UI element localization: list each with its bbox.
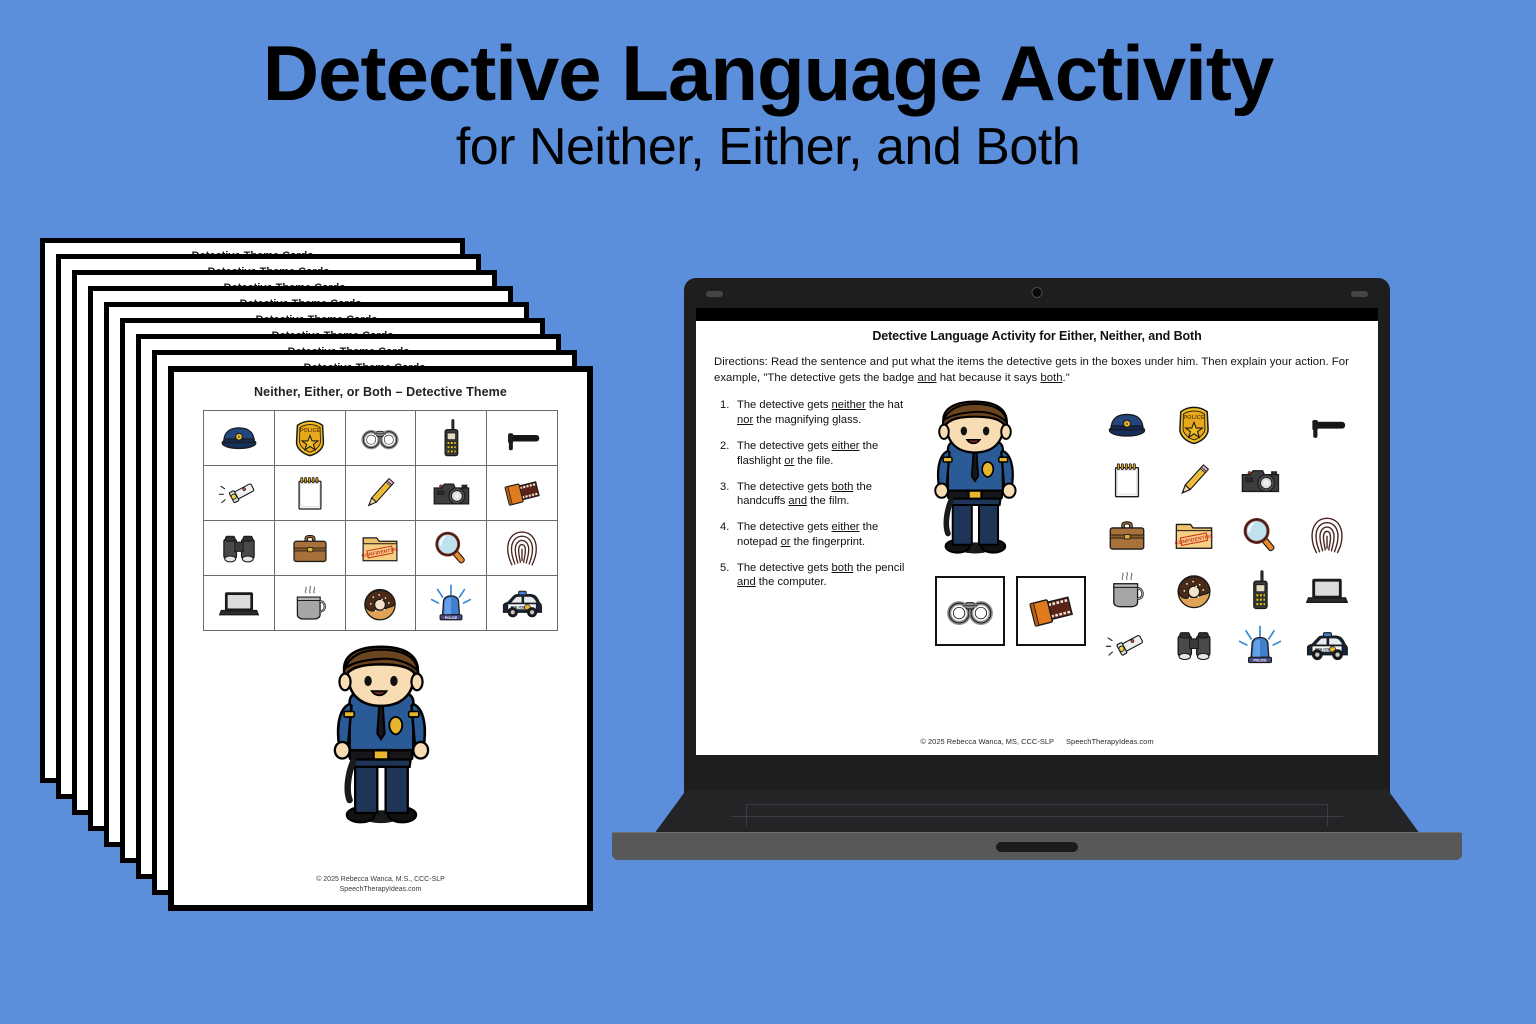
sentence-keyword-2: or <box>784 455 794 467</box>
detective-figure-column <box>919 398 1094 675</box>
sentence-keyword-2: and <box>788 495 807 507</box>
laptop-screen[interactable]: Detective Language Activity for Either, … <box>696 308 1378 755</box>
laptop-mockup: Detective Language Activity for Either, … <box>612 278 1462 858</box>
speaker-left-icon <box>706 291 723 297</box>
sentence-item: 2.The detective gets either the flashlig… <box>720 439 919 469</box>
item-bank-column: POLICE <box>1094 398 1360 675</box>
sentence-text: The detective gets either the flashlight… <box>737 439 919 469</box>
directions-mid: hat because it says <box>937 372 1041 384</box>
item-fingerprint[interactable] <box>1305 513 1349 562</box>
title-main: Detective Language Activity <box>0 34 1536 114</box>
directions-suffix: ." <box>1063 372 1070 384</box>
laptop-bezel <box>684 278 1390 308</box>
credit-site: SpeechTherapyIdeas.com <box>1066 737 1154 746</box>
keyboard-rows-2 <box>731 816 1344 830</box>
card-cell-siren[interactable]: POLICE <box>416 576 487 631</box>
sentence-item: 5.The detective gets both the pencil and… <box>720 561 919 591</box>
answer-box-handcuffs[interactable] <box>935 576 1005 646</box>
sentence-item: 4.The detective gets either the notepad … <box>720 520 919 550</box>
item-police-badge[interactable]: POLICE <box>1172 403 1216 452</box>
item-confidential-file[interactable]: CONFIDENTIAL <box>1172 513 1216 562</box>
laptop-keyboard-deck <box>654 790 1420 834</box>
sentence-text: The detective gets neither the hat nor t… <box>737 398 919 428</box>
item-flashlight[interactable] <box>1105 623 1149 672</box>
item-bank-grid[interactable]: POLICE <box>1094 400 1360 675</box>
front-sheet-credit: © 2025 Rebecca Wanca, M.S., CCC-SLPSpeec… <box>174 875 587 895</box>
card-cell-police-car[interactable]: POLICE <box>487 576 558 631</box>
card-cell-confidential-file[interactable]: CONFIDENTIAL <box>346 521 417 576</box>
laptop-latch <box>996 842 1078 852</box>
front-sheet[interactable]: Neither, Either, or Both – Detective The… <box>168 366 593 911</box>
card-cell-magnifying-glass[interactable] <box>416 521 487 576</box>
card-cell-binoculars[interactable] <box>204 521 275 576</box>
card-cell-donut[interactable] <box>346 576 417 631</box>
document-directions: Directions: Read the sentence and put wh… <box>714 354 1360 386</box>
sentence-list: 1.The detective gets neither the hat nor… <box>714 398 919 675</box>
item-coffee-mug[interactable] <box>1105 568 1149 617</box>
svg-text:POLICE: POLICE <box>445 616 458 620</box>
sentence-item: 3.The detective gets both the handcuffs … <box>720 480 919 510</box>
credit-author: © 2025 Rebecca Wanca, M.S., CCC-SLP <box>174 875 587 885</box>
sentence-text: The detective gets both the pencil and t… <box>737 561 919 591</box>
sentence-number: 4. <box>720 520 737 550</box>
document-body: 1.The detective gets neither the hat nor… <box>714 398 1360 675</box>
item-laptop[interactable] <box>1305 568 1349 617</box>
card-cell-handcuffs[interactable] <box>346 411 417 466</box>
card-grid[interactable]: POLICE <box>203 410 558 631</box>
sentence-text: The detective gets both the handcuffs an… <box>737 480 919 510</box>
paper-stack[interactable]: Detective Theme CardsDetective Theme Car… <box>40 238 600 918</box>
card-cell-pencil[interactable] <box>346 466 417 521</box>
card-cell-coffee-mug[interactable] <box>275 576 346 631</box>
sentence-keyword-1: both <box>832 481 854 493</box>
laptop-front-edge <box>612 832 1462 860</box>
screen-top-bar <box>696 308 1378 321</box>
item-camera[interactable] <box>1238 458 1282 507</box>
item-binoculars[interactable] <box>1172 623 1216 672</box>
directions-underline-and: and <box>918 372 937 384</box>
sentence-item: 1.The detective gets neither the hat nor… <box>720 398 919 428</box>
title-subtitle: for Neither, Either, and Both <box>0 118 1536 176</box>
card-cell-flashlight[interactable] <box>204 466 275 521</box>
svg-text:POLICE: POLICE <box>1183 415 1204 421</box>
card-cell-notepad[interactable] <box>275 466 346 521</box>
page-title: Detective Language Activity for Neither,… <box>0 34 1536 176</box>
card-cell-police-badge[interactable]: POLICE <box>275 411 346 466</box>
svg-text:POLICE: POLICE <box>300 428 321 434</box>
answer-box-film[interactable] <box>1016 576 1086 646</box>
sentence-number: 2. <box>720 439 737 469</box>
credit-site: SpeechTherapyIdeas.com <box>174 885 587 895</box>
svg-text:POLICE: POLICE <box>1254 659 1268 663</box>
item-baton[interactable] <box>1305 403 1349 452</box>
card-cell-police-hat[interactable] <box>204 411 275 466</box>
card-cell-briefcase[interactable] <box>275 521 346 576</box>
laptop-lid: Detective Language Activity for Either, … <box>684 278 1390 806</box>
sentence-keyword-1: both <box>832 562 854 574</box>
item-pencil[interactable] <box>1172 458 1216 507</box>
item-briefcase[interactable] <box>1105 513 1149 562</box>
sentence-text: The detective gets either the notepad or… <box>737 520 919 550</box>
item-donut[interactable] <box>1172 568 1216 617</box>
sentence-number: 3. <box>720 480 737 510</box>
document-credit: © 2025 Rebecca Wanca, MS, CCC-SLPSpeechT… <box>696 737 1378 746</box>
detective-character <box>919 400 1094 564</box>
sentence-keyword-2: or <box>781 536 791 548</box>
directions-underline-both: both <box>1040 372 1062 384</box>
card-cell-walkie-talkie[interactable] <box>416 411 487 466</box>
sentence-keyword-1: either <box>832 521 860 533</box>
item-slot-empty <box>1238 406 1282 450</box>
credit-author: © 2025 Rebecca Wanca, MS, CCC-SLP <box>920 737 1054 746</box>
item-walkie-talkie[interactable] <box>1238 568 1282 617</box>
card-cell-baton[interactable] <box>487 411 558 466</box>
sentence-keyword-2: and <box>737 576 756 588</box>
detective-character <box>316 645 446 835</box>
item-magnifying-glass[interactable] <box>1238 513 1282 562</box>
card-cell-fingerprint[interactable] <box>487 521 558 576</box>
item-police-hat[interactable] <box>1105 403 1149 452</box>
card-cell-camera[interactable] <box>416 466 487 521</box>
item-slot-empty <box>1305 461 1349 505</box>
sentence-keyword-1: neither <box>832 399 866 411</box>
front-sheet-title: Neither, Either, or Both – Detective The… <box>174 385 587 399</box>
sentence-number: 1. <box>720 398 737 428</box>
sentence-number: 5. <box>720 561 737 591</box>
document-title: Detective Language Activity for Either, … <box>714 329 1360 343</box>
item-police-car[interactable]: POLICE <box>1305 623 1349 672</box>
document-page: Detective Language Activity for Either, … <box>696 321 1378 675</box>
sentence-keyword-1: either <box>832 440 860 452</box>
speaker-right-icon <box>1351 291 1368 297</box>
sentence-keyword-2: nor <box>737 414 753 426</box>
item-notepad[interactable] <box>1105 458 1149 507</box>
card-cell-film[interactable] <box>487 466 558 521</box>
card-cell-laptop[interactable] <box>204 576 275 631</box>
answer-boxes[interactable] <box>919 576 1094 646</box>
item-siren[interactable]: POLICE <box>1238 623 1282 672</box>
webcam-icon <box>1032 287 1043 298</box>
